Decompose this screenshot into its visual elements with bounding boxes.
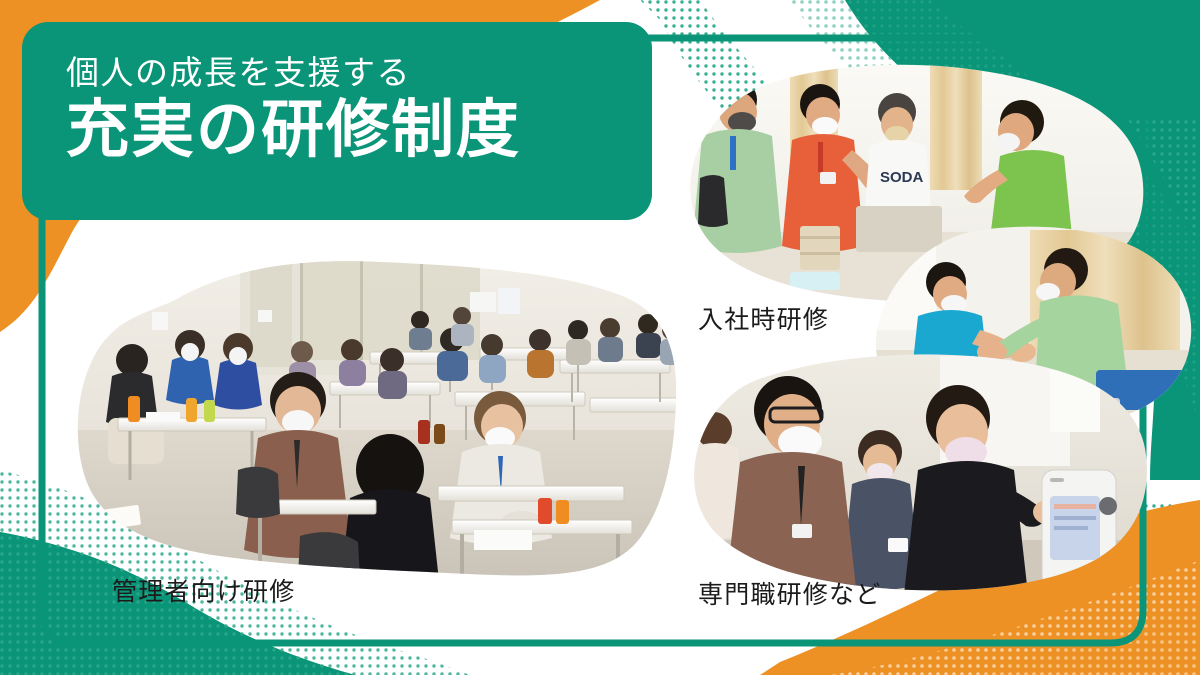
svg-text:SODA: SODA	[880, 169, 924, 186]
caption-manager-training: 管理者向け研修	[112, 572, 295, 608]
photo-manager-training	[60, 250, 700, 597]
caption-specialist-training: 専門職研修など	[698, 575, 881, 611]
photo-specialist-training	[680, 350, 1160, 603]
slide-canvas: 個人の成長を支援する 充実の研修制度	[0, 0, 1200, 675]
caption-entry-training: 入社時研修	[698, 300, 829, 336]
